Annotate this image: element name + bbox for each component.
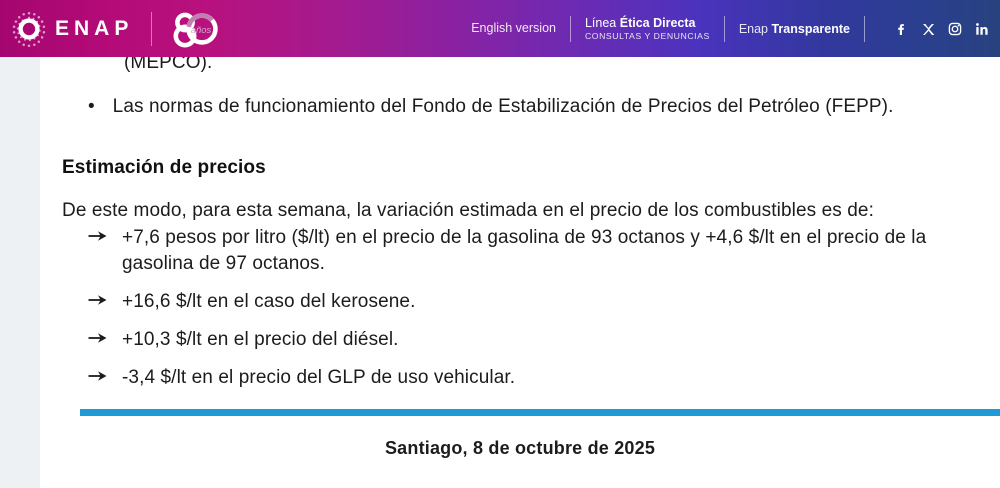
arrow-right-icon xyxy=(88,229,108,247)
bullet-dot-icon: • xyxy=(88,94,95,120)
anniversary-80-anos-logo: años xyxy=(168,9,224,49)
arrow-right-icon xyxy=(88,331,108,349)
x-twitter-icon[interactable] xyxy=(920,21,936,37)
enap-circular-logo-icon xyxy=(10,10,48,48)
nav-separator xyxy=(724,16,725,42)
arrow-right-icon xyxy=(88,293,108,311)
list-item: +16,6 $/lt en el caso del kerosene. xyxy=(88,289,990,315)
social-icons xyxy=(893,21,990,37)
ethics-title-bold: Ética Directa xyxy=(620,16,696,30)
list-item: -3,4 $/lt en el precio del GLP de uso ve… xyxy=(88,365,990,391)
ethics-title: Línea Ética Directa xyxy=(585,16,710,31)
dateline: Santiago, 8 de octubre de 2025 xyxy=(40,438,1000,459)
english-version-link[interactable]: English version xyxy=(471,21,556,35)
instagram-icon[interactable] xyxy=(947,21,963,37)
enap-transparente-link[interactable]: Enap Transparente xyxy=(739,22,850,36)
ethics-title-plain: Línea xyxy=(585,16,620,30)
fepp-bullet-item: • Las normas de funcionamiento del Fondo… xyxy=(88,94,990,120)
svg-text:años: años xyxy=(191,25,212,36)
brand-block[interactable]: ENAP años xyxy=(0,9,224,49)
transparency-bold: Transparente xyxy=(771,22,850,36)
price-item-text: +16,6 $/lt en el caso del kerosene. xyxy=(122,289,415,315)
header-nav: English version Línea Ética Directa CONS… xyxy=(471,16,1000,42)
list-item: +10,3 $/lt en el precio del diésel. xyxy=(88,327,990,353)
price-item-text: -3,4 $/lt en el precio del GLP de uso ve… xyxy=(122,365,515,391)
price-item-text: +10,3 $/lt en el precio del diésel. xyxy=(122,327,399,353)
linea-etica-directa-link[interactable]: Línea Ética Directa CONSULTAS Y DENUNCIA… xyxy=(585,16,710,41)
site-header: ENAP años English version Línea Ética Di… xyxy=(0,0,1000,57)
fepp-bullet-text: Las normas de funcionamiento del Fondo d… xyxy=(113,94,894,120)
page-shell: (MEPCO). • Las normas de funcionamiento … xyxy=(0,0,1000,488)
price-variation-list: +7,6 pesos por litro ($/lt) en el precio… xyxy=(88,225,990,403)
price-item-text: +7,6 pesos por litro ($/lt) en el precio… xyxy=(122,225,990,277)
ethics-subtitle: CONSULTAS Y DENUNCIAS xyxy=(585,31,710,41)
nav-separator xyxy=(864,16,865,42)
document-area: (MEPCO). • Las normas de funcionamiento … xyxy=(40,0,1000,488)
linkedin-icon[interactable] xyxy=(974,21,990,37)
list-item: +7,6 pesos por litro ($/lt) en el precio… xyxy=(88,225,990,277)
transparency-plain: Enap xyxy=(739,22,772,36)
intro-paragraph: De este modo, para esta semana, la varia… xyxy=(62,198,980,224)
section-heading-estimacion-de-precios: Estimación de precios xyxy=(62,157,266,179)
nav-separator xyxy=(570,16,571,42)
enap-wordmark: ENAP xyxy=(55,18,133,39)
document-content: (MEPCO). • Las normas de funcionamiento … xyxy=(40,0,1000,488)
blue-divider xyxy=(80,409,1000,416)
brand-divider xyxy=(151,12,152,46)
arrow-right-icon xyxy=(88,369,108,387)
facebook-icon[interactable] xyxy=(893,21,909,37)
